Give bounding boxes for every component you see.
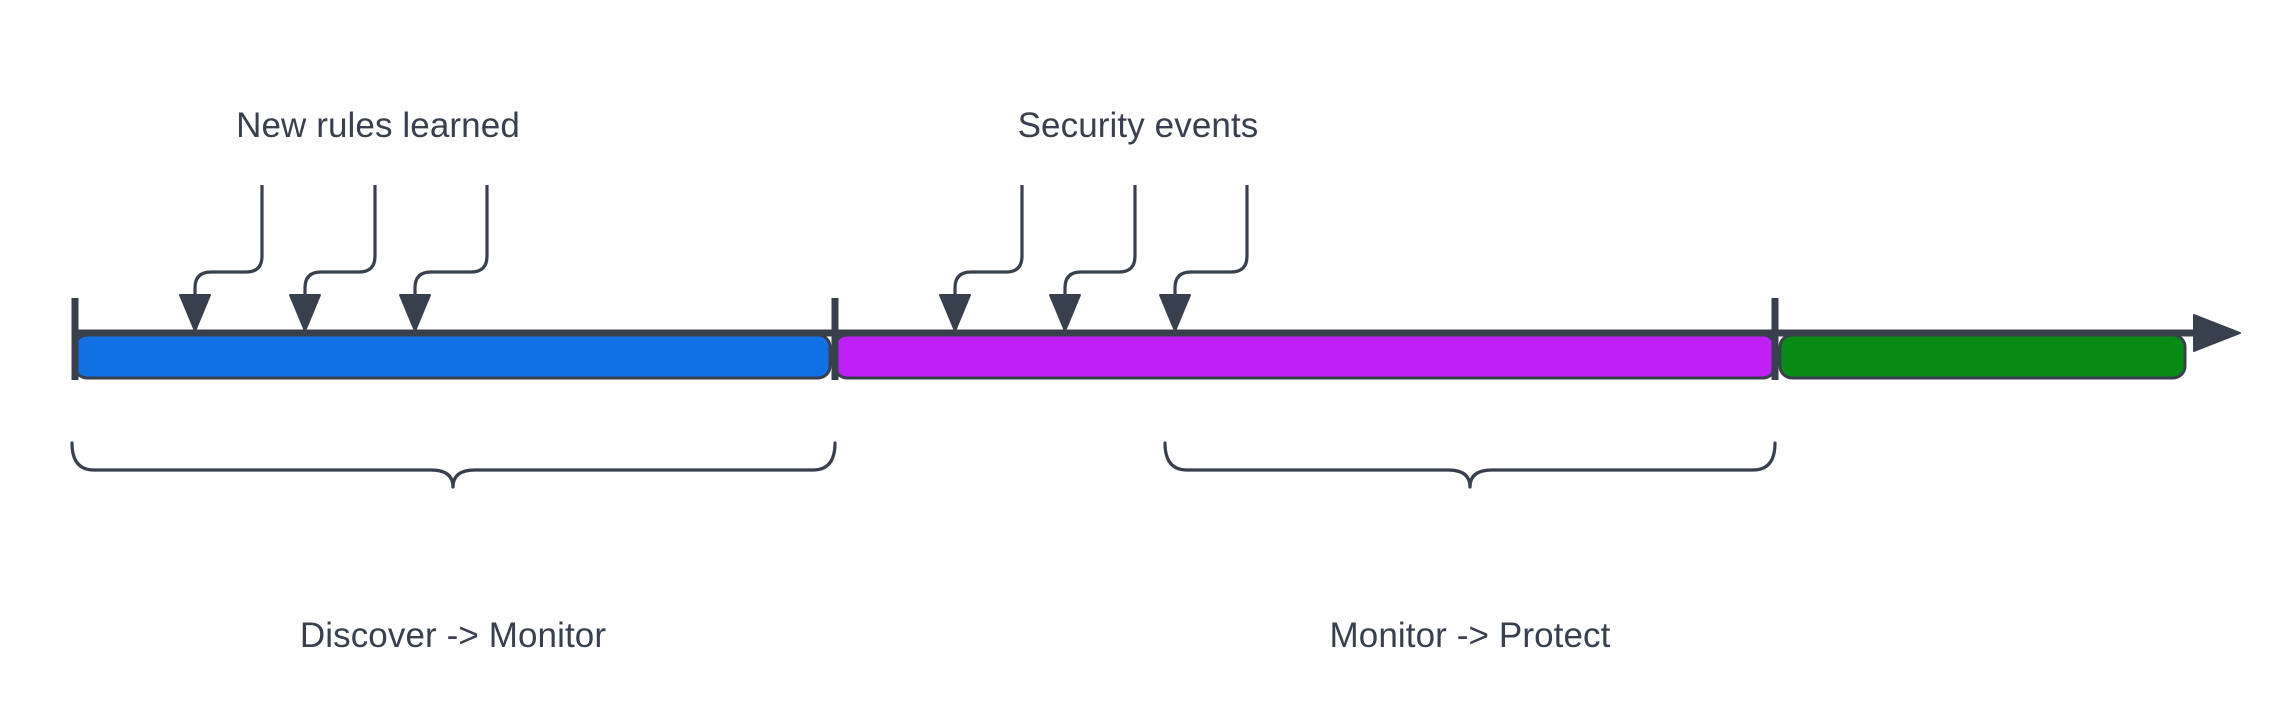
brace-discover-to-monitor-timer [72,443,835,487]
timeline-segment-monitor[interactable] [835,335,1775,378]
event-connector-security-events-1 [1065,185,1135,295]
brace-monitor-to-protect-timer [1165,443,1775,487]
event-connector-new-rules-learned-1 [305,185,375,295]
timeline-segment-discover[interactable] [75,335,830,378]
event-label-security-events: Security events [538,105,1738,148]
brace-label-monitor-to-protect-timer: Monitor -> Protect Timer [870,530,2070,718]
event-connector-security-events-0 [955,185,1022,295]
event-arrowhead-icon-security-events-1 [1050,295,1080,331]
event-connector-security-events-2 [1175,185,1247,295]
event-arrowhead-icon-security-events-0 [940,295,970,331]
timeline-segment-protect[interactable] [1780,335,2185,378]
event-connector-new-rules-learned-2 [415,185,487,295]
event-arrowhead-icon-new-rules-learned-1 [290,295,320,331]
event-arrowhead-icon-new-rules-learned-0 [180,295,210,331]
brace-label-line1: Monitor -> Protect [870,615,2070,658]
timeline-diagram: New rules learned Security events Discov… [0,0,2278,718]
timeline-arrowhead-icon [2194,315,2240,351]
event-arrowhead-icon-new-rules-learned-2 [400,295,430,331]
event-connector-new-rules-learned-0 [195,185,262,295]
event-arrowhead-icon-security-events-2 [1160,295,1190,331]
